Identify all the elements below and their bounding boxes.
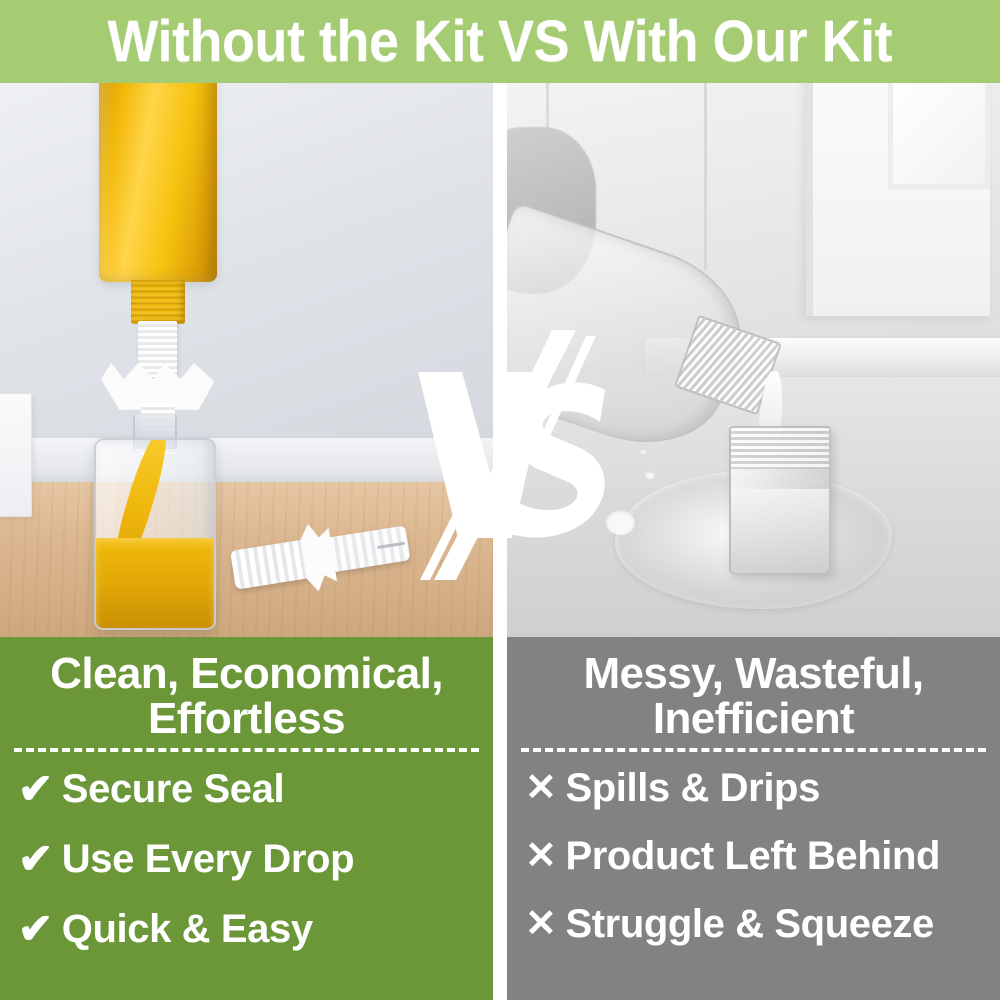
- spill-droplet: [606, 510, 636, 535]
- bullet-label: Product Left Behind: [565, 836, 940, 876]
- panel-left-bullet-list: ✔ Secure Seal ✔ Use Every Drop ✔ Quick &…: [12, 752, 481, 950]
- baseboard: [0, 438, 493, 488]
- bullet-label: Use Every Drop: [62, 839, 354, 879]
- photo-with-kit: [0, 83, 493, 637]
- cross-icon: ✕: [525, 769, 556, 807]
- connector-slot: [377, 542, 405, 549]
- window-frame: [806, 83, 990, 316]
- list-item: ✕ Struggle & Squeeze: [525, 904, 988, 944]
- panel-without-kit: Messy, Wasteful, Inefficient ✕ Spills & …: [507, 637, 1000, 1000]
- bullet-label: Spills & Drips: [565, 768, 819, 808]
- photo-strip: [0, 83, 1000, 637]
- oil-pool: [96, 538, 214, 628]
- bullet-label: Quick & Easy: [62, 909, 313, 949]
- clear-receiving-bottle: [94, 438, 216, 630]
- bullet-label: Secure Seal: [62, 769, 284, 809]
- list-item: ✕ Spills & Drips: [525, 768, 988, 808]
- list-item: ✔ Use Every Drop: [18, 838, 481, 880]
- jar-fill-level: [731, 489, 830, 573]
- photo-divider: [493, 166, 507, 720]
- list-item: ✔ Quick & Easy: [18, 908, 481, 950]
- panel-with-kit: Clean, Economical, Effortless ✔ Secure S…: [0, 637, 493, 1000]
- list-item: ✔ Secure Seal: [18, 768, 481, 810]
- amber-bottle-neck: [131, 280, 185, 324]
- white-box-prop: [0, 393, 32, 517]
- cabinet-edge-secondary: [704, 83, 707, 271]
- panel-right-heading: Messy, Wasteful, Inefficient: [519, 651, 988, 742]
- check-icon: ✔: [18, 768, 53, 810]
- jar-threads: [731, 428, 830, 468]
- spill-droplet: [645, 471, 655, 479]
- cross-icon: ✕: [525, 837, 556, 875]
- spill-droplet: [640, 449, 647, 455]
- small-jar: [729, 426, 832, 574]
- comparison-infographic: Without the Kit VS With Our Kit: [0, 0, 1000, 1000]
- photo-without-kit: [507, 83, 1000, 637]
- panel-right-bullet-list: ✕ Spills & Drips ✕ Product Left Behind ✕…: [519, 752, 988, 944]
- connector-collar: [298, 521, 338, 593]
- check-icon: ✔: [18, 908, 53, 950]
- list-item: ✕ Product Left Behind: [525, 836, 988, 876]
- adapter-upper-stem: [138, 321, 177, 376]
- wall-background: [0, 83, 493, 482]
- cross-icon: ✕: [525, 905, 556, 943]
- scene-clean-transfer: [0, 83, 493, 637]
- bullet-label: Struggle & Squeeze: [565, 904, 933, 944]
- amber-oil-bottle: [99, 83, 217, 282]
- connector-tip: [328, 526, 410, 572]
- header-band: Without the Kit VS With Our Kit: [0, 0, 1000, 83]
- scene-messy-pour: [507, 83, 1000, 637]
- page-title: Without the Kit VS With Our Kit: [108, 13, 893, 71]
- check-icon: ✔: [18, 838, 53, 880]
- window-pane: [888, 83, 990, 189]
- panel-left-heading: Clean, Economical, Effortless: [12, 651, 481, 742]
